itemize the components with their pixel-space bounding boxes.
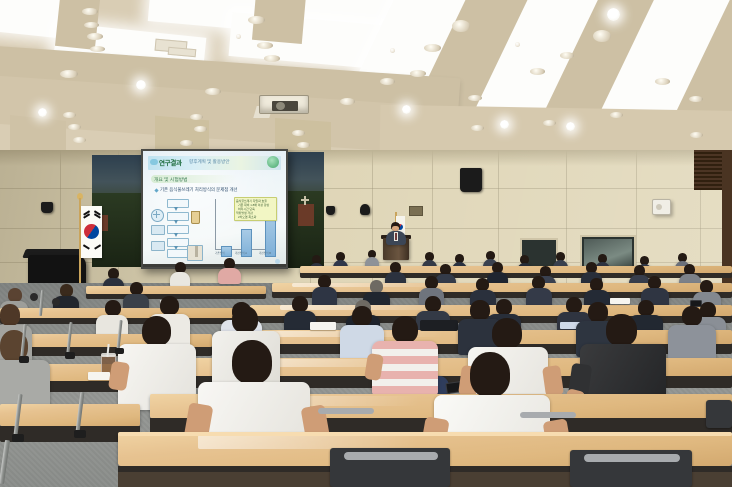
speaker-icon [652, 199, 671, 215]
attendee [586, 262, 597, 273]
slide-flow-diagram [151, 197, 201, 257]
downlight-icon [257, 42, 273, 49]
downlight-icon [63, 112, 76, 118]
attendee [638, 300, 654, 316]
attendee [318, 275, 331, 288]
downlight-icon [292, 130, 305, 136]
chart-y-axis [215, 199, 216, 249]
attendee [130, 282, 143, 295]
attendee [425, 276, 438, 289]
downlight-icon [689, 96, 703, 102]
projection-screen: 연구결과 향후계획 및 활용방안 개요 및 시험방법 기존 음식물쓰레기 처리방… [141, 149, 288, 269]
speaker-icon [360, 204, 370, 215]
attendee [598, 254, 607, 263]
attendee-white-shirt [492, 318, 522, 349]
chair-handle [344, 452, 438, 460]
downlight-icon [607, 8, 620, 21]
attendee [520, 255, 529, 264]
downlight-icon [380, 78, 395, 85]
chart-xtick: 개선방식 B [259, 251, 271, 255]
chart-xtick: 개선방식 A [235, 251, 247, 255]
attendee-blue-shirt [352, 306, 372, 326]
projected-slide: 연구결과 향후계획 및 활용방안 개요 및 시험방법 기존 음식물쓰레기 처리방… [143, 151, 286, 267]
attendee [455, 254, 464, 263]
desk-foot [115, 348, 124, 354]
downlight-icon [515, 42, 520, 47]
slide-section-header: 개요 및 시험방법 [154, 176, 188, 183]
downlight-icon [424, 44, 441, 52]
attendee [492, 262, 503, 273]
attendee-white-shirt [142, 316, 171, 346]
attendee [700, 302, 716, 318]
downlight-icon [194, 126, 207, 132]
downlight-icon [471, 125, 484, 131]
downlight-icon [180, 140, 193, 146]
downlight-icon [530, 68, 545, 75]
chair-caster [52, 298, 60, 306]
attendee [425, 296, 441, 312]
attendee [476, 278, 489, 291]
flow-box [167, 212, 189, 221]
screen-bottom-edge [143, 264, 286, 267]
attendee [700, 280, 713, 293]
attendee [336, 252, 345, 261]
downlight-icon [340, 98, 355, 105]
attendee [682, 306, 702, 326]
flow-beaker-icon [191, 211, 200, 224]
slide-title-icon [150, 159, 158, 165]
downlight-icon [90, 46, 105, 52]
projector-lens-icon [276, 102, 285, 110]
speaker-icon [41, 202, 53, 213]
korean-flag [81, 206, 102, 258]
speaker-icon [460, 168, 482, 192]
attendee [496, 299, 512, 315]
chair-handle [520, 412, 576, 418]
flow-image [151, 241, 165, 251]
attendee [390, 262, 401, 273]
attendee [105, 300, 121, 316]
wall-sign [409, 206, 423, 216]
attendee [0, 304, 20, 326]
attendee-white-shirt [232, 340, 272, 384]
desk-foot [74, 430, 86, 438]
downlight-icon [73, 137, 86, 143]
attendee [108, 268, 119, 279]
ceiling-projector [255, 92, 311, 118]
attendee [8, 288, 22, 302]
attendee [556, 252, 565, 261]
flow-box [167, 249, 189, 258]
flow-box [167, 199, 189, 208]
chair-caster [30, 293, 38, 301]
downlight-icon [410, 70, 426, 77]
speaker-icon [326, 206, 335, 215]
attendee [425, 252, 434, 261]
handout-paper [610, 298, 630, 304]
downlight-icon [236, 34, 241, 39]
flow-box [167, 225, 189, 234]
downlight-icon [610, 112, 623, 118]
organization-logo-icon [267, 156, 279, 168]
attendee-striped-shirt [392, 316, 418, 343]
handout-paper [310, 322, 336, 330]
desk-foot [65, 352, 75, 359]
wall-mural-right [284, 152, 324, 268]
downlight-icon [84, 22, 99, 28]
slide-subtitle: 향후계획 및 활용방안 [189, 159, 230, 165]
attendee-black-shirt [606, 314, 637, 346]
desk-edge-highlight [118, 432, 732, 436]
attendee [684, 264, 695, 275]
desk-foot [19, 356, 29, 363]
presenter [385, 222, 407, 244]
handout-paper [88, 372, 110, 380]
ceiling [0, 0, 732, 175]
attendee [648, 276, 661, 289]
attendee [678, 253, 687, 262]
downlight-icon [452, 20, 470, 32]
downlight-icon [60, 70, 78, 78]
attendee [60, 284, 73, 297]
attendee [566, 297, 582, 313]
downlight-icon [690, 132, 703, 138]
slide-bar-chart: 기존방식 개선방식 A 개선방식 B 음식물쓰레기 자원화 효율 기존 대비 1… [207, 199, 277, 257]
taeguk-symbol-icon [84, 224, 99, 239]
attendee [486, 251, 495, 260]
downlight-icon [190, 114, 203, 120]
chart-xtick: 기존방식 [215, 251, 225, 255]
bag [420, 320, 458, 331]
slide-bullet: 기존 음식물쓰레기 처리방식의 문제점 개선 [160, 187, 238, 193]
downlight-icon [38, 108, 47, 117]
attendee [368, 250, 376, 258]
chair [706, 400, 732, 428]
downlight-icon [297, 142, 310, 148]
flow-image [151, 225, 165, 235]
downlight-icon [543, 120, 556, 126]
flow-arrow-icon [174, 207, 178, 211]
callout-line: 2차오염 최소화 [238, 216, 256, 219]
attendee [590, 278, 603, 291]
attendee [532, 276, 545, 289]
downlight-icon [500, 120, 509, 129]
desk-foot [12, 434, 24, 442]
lecture-desk [300, 266, 732, 278]
downlight-icon [593, 30, 611, 42]
attendee [470, 300, 490, 320]
slide-title: 연구결과 [159, 157, 182, 167]
downlight-icon [248, 16, 265, 24]
downlight-icon [136, 80, 146, 90]
downlight-icon [566, 122, 575, 131]
attendee [370, 280, 383, 293]
projector-body [259, 95, 309, 114]
chair-handle [318, 408, 374, 414]
lecture-hall-photo: 연구결과 향후계획 및 활용방안 개요 및 시험방법 기존 음식물쓰레기 처리방… [0, 0, 732, 487]
attendee [224, 258, 235, 269]
downlight-icon [82, 8, 98, 15]
downlight-icon [390, 48, 395, 53]
downlight-icon [468, 95, 482, 101]
attendee [634, 265, 645, 276]
downlight-icon [560, 52, 574, 59]
attendee [232, 306, 258, 333]
attendee [640, 256, 649, 265]
attendee [175, 262, 186, 273]
downlight-icon [655, 78, 670, 85]
attendee [588, 302, 608, 322]
attendee [160, 296, 179, 315]
flow-arrow-icon [174, 233, 178, 237]
downlight-icon [205, 88, 221, 95]
downlight-icon [87, 33, 103, 40]
flow-arrow-icon [174, 220, 178, 224]
attendee-white-shirt [470, 352, 510, 397]
downlight-icon [68, 124, 81, 130]
attendee [312, 255, 321, 264]
flow-node-icon [151, 209, 164, 222]
attendee [440, 264, 451, 275]
downlight-icon [264, 55, 280, 62]
downlight-icon [402, 105, 411, 114]
chair-handle [584, 454, 680, 462]
flow-box [167, 238, 189, 247]
attendee [292, 296, 308, 312]
